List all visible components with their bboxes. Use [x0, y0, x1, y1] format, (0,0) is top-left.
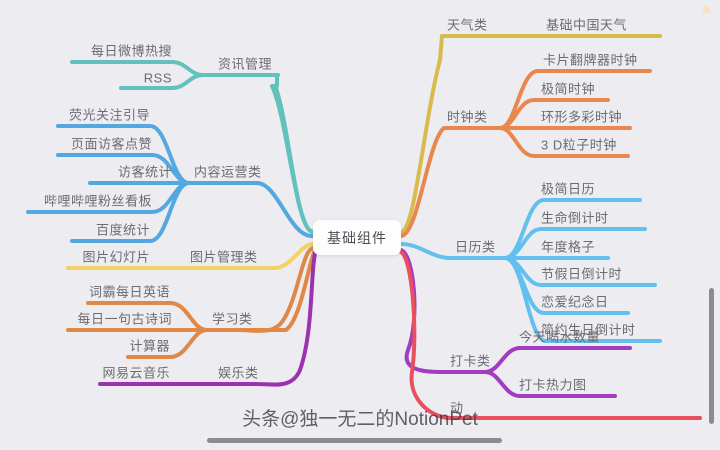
- node-label-study[interactable]: 学习类: [212, 312, 253, 327]
- node-label-bilibili-fan-board[interactable]: 哔哩哔哩粉丝看板: [44, 194, 152, 209]
- node-label-page-visitor-likes[interactable]: 页面访客点赞: [71, 137, 152, 152]
- node-label-weather[interactable]: 天气类: [447, 18, 488, 33]
- mindmap-canvas[interactable]: 资讯管理 每日微博热搜 RSS 内容运营类 荧光关注引导 页面访客点赞 访客统计…: [0, 0, 720, 450]
- node-label-checkin-heatmap[interactable]: 打卡热力图: [519, 378, 587, 393]
- node-label-life-countdown[interactable]: 生命倒计时: [541, 211, 609, 226]
- node-label-3d-particle-clock[interactable]: 3 D粒子时钟: [541, 138, 617, 153]
- node-label-visitor-stats[interactable]: 访客统计: [118, 165, 172, 180]
- horizontal-scrollbar-thumb[interactable]: [207, 438, 502, 443]
- root-node[interactable]: 基础组件: [313, 220, 401, 255]
- node-label-calendar[interactable]: 日历类: [455, 240, 496, 255]
- node-label-info-management[interactable]: 资讯管理: [218, 57, 272, 72]
- node-label-clock[interactable]: 时钟类: [447, 110, 488, 125]
- node-label-minimal-calendar[interactable]: 极简日历: [541, 182, 595, 197]
- node-label-minimal-clock[interactable]: 极简时钟: [541, 82, 595, 97]
- node-label-holiday-countdown[interactable]: 节假日倒计时: [541, 267, 622, 282]
- node-label-flip-card-clock[interactable]: 卡片翻牌器时钟: [543, 53, 638, 68]
- node-label-daily-english[interactable]: 词霸每日英语: [89, 285, 170, 300]
- node-label-calculator[interactable]: 计算器: [129, 339, 170, 354]
- node-label-content-operations[interactable]: 内容运营类: [194, 165, 262, 180]
- node-label-entertainment[interactable]: 娱乐类: [218, 366, 259, 381]
- node-label-checkin[interactable]: 打卡类: [450, 354, 491, 369]
- node-label-glow-follow-guide[interactable]: 荧光关注引导: [69, 108, 150, 123]
- node-label-water-intake[interactable]: 今天喝水数量: [519, 330, 600, 345]
- node-label-love-anniversary[interactable]: 恋爱纪念日: [541, 295, 609, 310]
- node-label-image-slideshow[interactable]: 图片幻灯片: [82, 250, 150, 265]
- node-label-animation-cutoff[interactable]: 动: [450, 401, 464, 416]
- node-label-ring-colorful-clock[interactable]: 环形多彩时钟: [541, 110, 622, 125]
- node-label-baidu-stats[interactable]: 百度统计: [96, 223, 150, 238]
- node-label-year-grid[interactable]: 年度格子: [541, 240, 595, 255]
- node-label-china-weather[interactable]: 基础中国天气: [546, 18, 627, 33]
- vertical-scrollbar-thumb[interactable]: [709, 288, 714, 424]
- node-label-daily-weibo-hot[interactable]: 每日微博热搜: [91, 44, 172, 59]
- node-label-netease-music[interactable]: 网易云音乐: [102, 366, 170, 381]
- corner-marker-icon: [703, 6, 710, 13]
- node-label-rss[interactable]: RSS: [144, 71, 172, 86]
- node-label-daily-poem[interactable]: 每日一句古诗词: [77, 312, 172, 327]
- node-label-image-management[interactable]: 图片管理类: [190, 250, 258, 265]
